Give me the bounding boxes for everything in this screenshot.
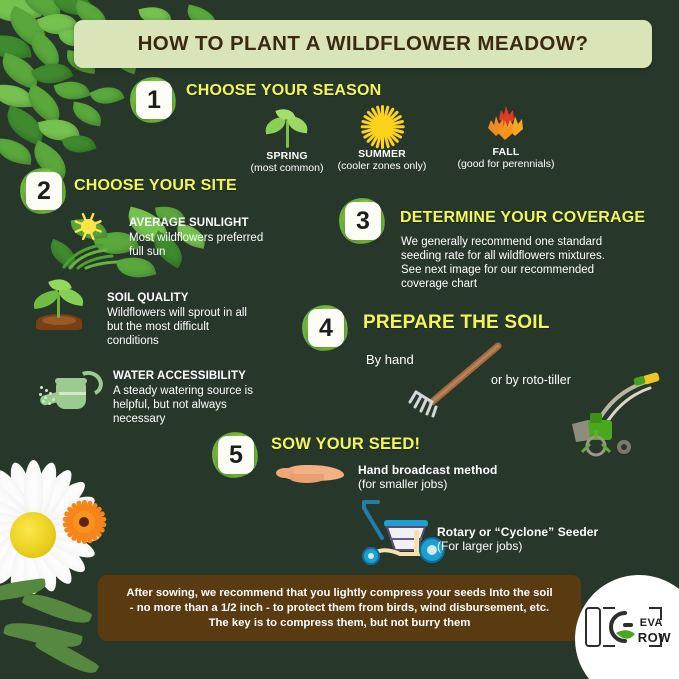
water-droplet <box>42 400 45 403</box>
feature-line: helpful, but not always <box>113 398 227 412</box>
decorative-leaf <box>0 138 33 165</box>
decorative-leaf <box>2 6 54 50</box>
step3-line: See next image for our recommended <box>401 263 594 277</box>
water-droplet <box>44 396 47 399</box>
decorative-leaf <box>20 0 65 20</box>
decorative-leaf <box>20 84 67 126</box>
feature-line: Most wildflowers preferred <box>129 231 263 245</box>
step-number-1: 1 <box>136 81 172 119</box>
roto-tiller-icon <box>550 368 665 458</box>
page-title-bar: HOW TO PLANT A WILDFLOWER MEADOW? <box>74 20 652 68</box>
step3-line: coverage chart <box>401 277 477 291</box>
logo-text-eva: EVA <box>640 617 663 629</box>
decorative-leaf <box>0 83 33 110</box>
season-name: FALL <box>446 146 566 158</box>
note-line: After sowing, we recommend that you ligh… <box>126 586 552 601</box>
decorative-leaf <box>31 55 73 91</box>
step3-line: We generally recommend one standard <box>401 235 602 249</box>
open-hand-icon <box>276 461 350 487</box>
season-summer: SUMMER (cooler zones only) <box>327 106 437 172</box>
page-title: HOW TO PLANT A WILDFLOWER MEADOW? <box>138 32 589 56</box>
field-lines-icon <box>62 240 122 270</box>
water-droplet <box>48 402 51 405</box>
decorative-leaf <box>53 0 93 18</box>
maple-leaf-icon <box>483 104 529 146</box>
daisy-center <box>10 512 56 558</box>
decorative-leaf <box>61 129 96 158</box>
feature-line: but the most difficult <box>107 320 209 334</box>
season-name: SUMMER <box>327 148 437 160</box>
decorative-leaf <box>0 31 32 63</box>
season-note: (most common) <box>232 162 342 174</box>
step-number-3: 3 <box>345 202 381 240</box>
water-droplet <box>52 398 55 401</box>
sow-method-sub-hand: (for smaller jobs) <box>358 477 447 491</box>
step-badge-5: 5 <box>212 432 258 478</box>
decorative-leaf <box>0 52 43 89</box>
step-heading-2: CHOOSE YOUR SITE <box>74 177 237 195</box>
water-droplet <box>45 389 48 392</box>
feature-line: full sun <box>129 245 165 259</box>
season-spring: SPRING (most common) <box>232 108 342 174</box>
infographic-canvas: HOW TO PLANT A WILDFLOWER MEADOW? 1 CHOO… <box>0 0 679 679</box>
step-badge-1: 1 <box>130 77 176 123</box>
seedling-in-soil-icon <box>32 278 86 330</box>
step-heading-3: DETERMINE YOUR COVERAGE <box>400 209 645 227</box>
season-note: (good for perennials) <box>446 158 566 170</box>
sun-over-field-icon <box>70 212 108 242</box>
closing-note: After sowing, we recommend that you ligh… <box>98 575 581 641</box>
feature-line: necessary <box>113 412 165 426</box>
step-heading-1: CHOOSE YOUR SEASON <box>186 82 381 100</box>
decorative-leaf <box>70 102 103 127</box>
water-droplet <box>40 386 43 389</box>
feature-line: Wildflowers will sprout in all <box>107 306 247 320</box>
note-line: The key is to compress them, but not bur… <box>209 616 471 631</box>
step-number-2: 2 <box>26 172 62 210</box>
marigold-flower-decoration <box>62 500 106 544</box>
note-line: - no more than a 1/2 inch - to protect t… <box>130 601 549 616</box>
decorative-leaf <box>38 114 80 145</box>
season-name: SPRING <box>232 150 342 162</box>
feature-title-sunlight: AVERAGE SUNLIGHT <box>129 217 249 229</box>
step-number-4: 4 <box>308 309 344 347</box>
season-note: (cooler zones only) <box>327 160 437 172</box>
decorative-leaf <box>23 29 68 70</box>
feature-line: A steady watering source is <box>113 384 253 398</box>
logo-text-grow: ROW <box>638 630 671 645</box>
decorative-leaf <box>89 81 124 111</box>
sow-method-title-hand: Hand broadcast method <box>358 463 497 477</box>
decorative-leaf <box>37 6 79 42</box>
sprout-icon <box>265 108 309 150</box>
step-badge-2: 2 <box>20 168 66 214</box>
sow-method-title-rotary: Rotary or “Cyclone” Seeder <box>437 525 598 539</box>
decorative-leaf <box>0 0 42 30</box>
water-droplet <box>39 393 42 396</box>
step-number-5: 5 <box>218 436 254 474</box>
feature-title-soil: SOIL QUALITY <box>107 292 189 304</box>
step-heading-5: SOW YOUR SEED! <box>271 435 420 454</box>
feature-title-water: WATER ACCESSIBILITY <box>113 370 246 382</box>
decorative-leaf <box>54 76 91 106</box>
sun-icon <box>360 106 404 148</box>
step-badge-3: 3 <box>339 198 385 244</box>
feature-line: conditions <box>107 334 159 348</box>
water-droplet <box>49 392 52 395</box>
decorative-leaf <box>0 105 49 146</box>
sow-method-sub-rotary: (For larger jobs) <box>437 539 522 553</box>
step-heading-4: PREPARE THE SOIL <box>363 312 550 334</box>
step-badge-4: 4 <box>302 305 348 351</box>
step3-line: seeding rate for all wildflowers mixture… <box>401 249 605 263</box>
watering-can-icon <box>38 372 100 414</box>
season-fall: FALL (good for perennials) <box>446 104 566 170</box>
